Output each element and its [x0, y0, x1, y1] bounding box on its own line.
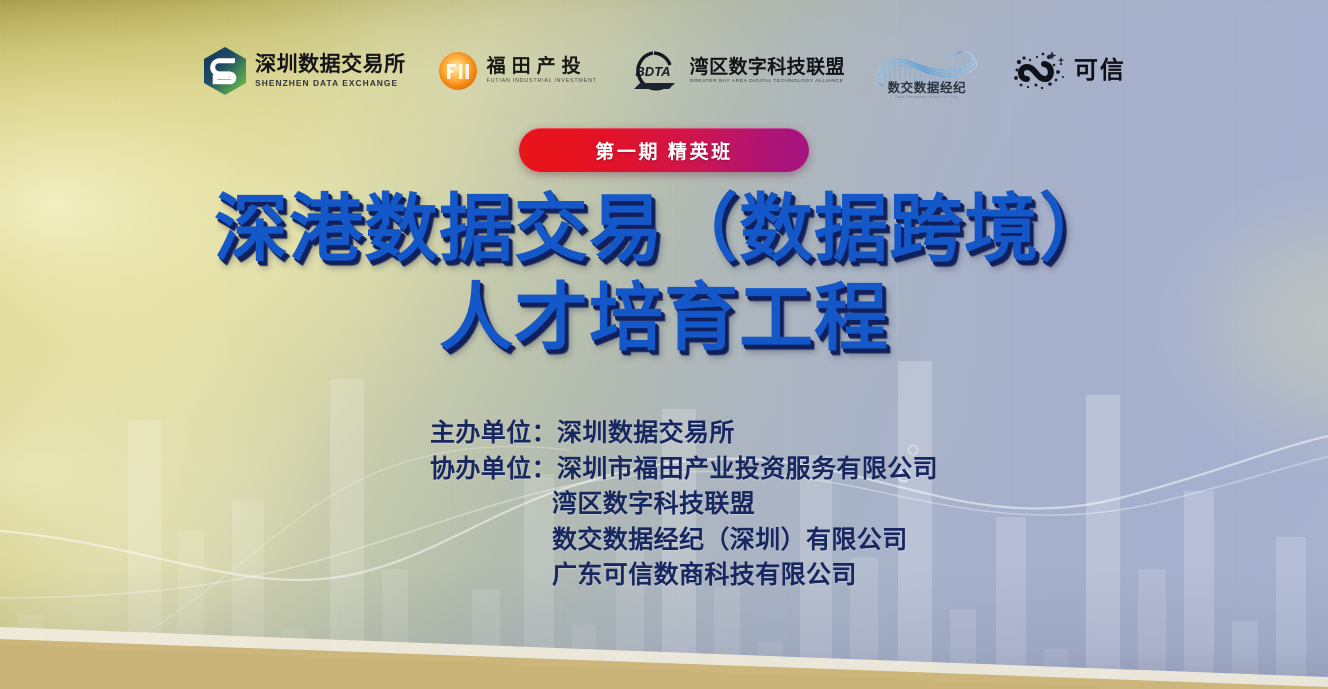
- logo-shujiao-data-broker: 数交数据经纪 Data Transaction Broker Co., Ltd.: [871, 42, 983, 100]
- status-badge: 第一期 精英班: [519, 128, 809, 172]
- organizer-coorg-value: 广东可信数商科技有限公司: [552, 557, 857, 593]
- organizer-coorg-row: 协办单位： 深圳市福田产业投资服务有限公司: [430, 451, 938, 487]
- organizer-coorg-row: 湾区数字科技联盟: [430, 486, 938, 522]
- organizer-block: 主办单位： 深圳数据交易所 协办单位： 深圳市福田产业投资服务有限公司 湾区数字…: [430, 415, 938, 593]
- organizer-coorg-row: 数交数据经纪（深圳）有限公司: [430, 522, 938, 558]
- organizer-coorg-value: 数交数据经纪（深圳）有限公司: [552, 522, 908, 558]
- fii-circle-logo-icon: [436, 49, 480, 93]
- svg-text:BDTA: BDTA: [635, 64, 670, 79]
- logo-kexin: 可信: [1013, 42, 1126, 100]
- title-line-1: 深港数据交易（数据跨境）: [0, 188, 1328, 271]
- page-title: 深港数据交易（数据跨境） 人才培育工程: [0, 188, 1328, 360]
- badge-label: 第一期 精英班: [595, 137, 732, 164]
- hexagon-s-logo-icon: [202, 46, 248, 96]
- logo-shenzhen-data-exchange: 深圳数据交易所 SHENZHEN DATA EXCHANGE: [202, 42, 406, 100]
- logo-label-cn: 福田产投: [487, 57, 597, 76]
- gbda-swoosh-logo-icon: BDTA: [623, 50, 683, 92]
- logo-label-en: GREATER BAY AREA DIGITAL TECHNOLOGY ALLI…: [690, 79, 845, 84]
- organizer-host-label: 主办单位：: [430, 415, 557, 451]
- organizer-coorg-value: 深圳市福田产业投资服务有限公司: [557, 451, 938, 487]
- logo-label-cn: 数交数据经纪: [888, 82, 967, 95]
- logo-gbda-alliance: BDTA 湾区数字科技联盟 GREATER BAY AREA DIGITAL T…: [623, 42, 845, 100]
- sponsor-logo-strip: 深圳数据交易所 SHENZHEN DATA EXCHANGE: [0, 40, 1328, 102]
- logo-label-en: Data Transaction Broker Co., Ltd.: [895, 96, 958, 100]
- event-backdrop: 深圳数据交易所 SHENZHEN DATA EXCHANGE: [0, 0, 1328, 689]
- organizer-host-value: 深圳数据交易所: [557, 415, 735, 451]
- logo-futian-industrial-investment: 福田产投 FUTIAN INDUSTRIAL INVESTMENT: [436, 42, 597, 100]
- title-line-2: 人才培育工程: [0, 277, 1328, 360]
- organizer-coorg-value: 湾区数字科技联盟: [552, 486, 755, 522]
- logo-label-en: FUTIAN INDUSTRIAL INVESTMENT: [487, 80, 597, 85]
- logo-label-en: SHENZHEN DATA EXCHANGE: [255, 79, 406, 87]
- logo-label-cn: 深圳数据交易所: [255, 54, 406, 75]
- dotted-infinity-logo-icon: [1013, 48, 1067, 94]
- logo-label-cn: 湾区数字科技联盟: [690, 58, 845, 77]
- organizer-host-row: 主办单位： 深圳数据交易所: [430, 415, 938, 451]
- organizer-coorg-label: 协办单位：: [430, 451, 557, 487]
- organizer-coorg-row: 广东可信数商科技有限公司: [430, 557, 938, 593]
- logo-label-cn: 可信: [1074, 59, 1126, 83]
